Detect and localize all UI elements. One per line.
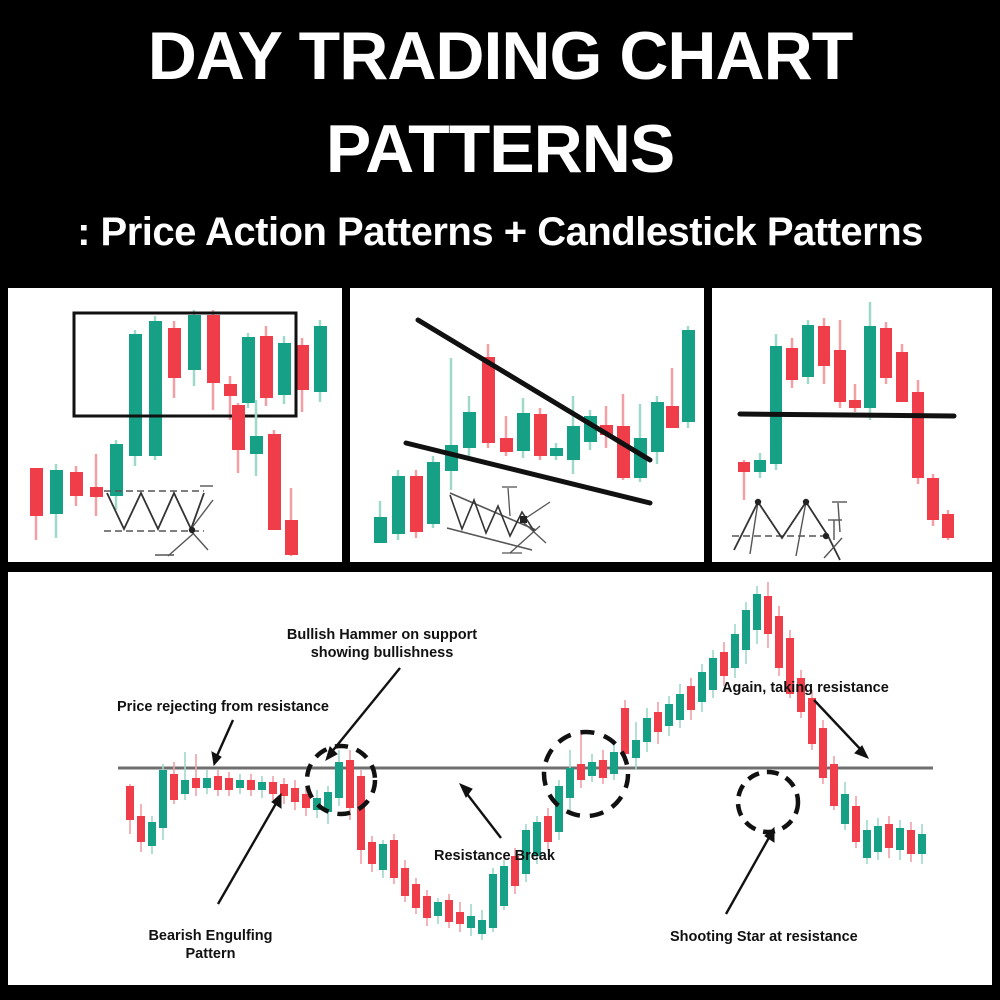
mini-diagram-rectangle-range bbox=[104, 486, 213, 556]
arrow-price-rejecting bbox=[216, 720, 233, 758]
falling-wedge-trendlines bbox=[406, 320, 650, 503]
page-title-line-2: PATTERNS bbox=[0, 115, 1000, 183]
arrow-bearish-engulfing bbox=[218, 800, 278, 904]
falling-wedge-chart bbox=[350, 288, 704, 562]
annotation-shooting-star-at-resistance: Shooting Star at resistance bbox=[670, 928, 858, 946]
rectangle-range-chart bbox=[8, 288, 342, 562]
arrow-bullish-hammer bbox=[330, 668, 400, 754]
panel-falling-wedge[interactable] bbox=[350, 288, 704, 562]
panel-main-annotated[interactable] bbox=[8, 572, 992, 985]
double-top-chart bbox=[712, 288, 992, 562]
annotation-price-rejecting-from-resistance: Price rejecting from resistance bbox=[117, 698, 329, 716]
circle-shooting-star bbox=[738, 772, 798, 832]
mini-diagram-falling-wedge bbox=[447, 487, 550, 553]
annotation-again-taking-resistance: Again, taking resistance bbox=[722, 679, 889, 697]
annotation-bullish-hammer-on-support: Bullish Hammer on support showing bullis… bbox=[271, 626, 493, 662]
page-title-line-1: DAY TRADING CHART bbox=[0, 22, 1000, 90]
arrow-shooting-star bbox=[726, 834, 771, 914]
mini-diagram-double-top bbox=[732, 499, 847, 560]
arrow-resistance-break bbox=[464, 790, 501, 838]
title-banner: DAY TRADING CHART PATTERNS : Price Actio… bbox=[0, 0, 1000, 288]
panel-rectangle-range[interactable] bbox=[8, 288, 342, 562]
panel-double-top[interactable] bbox=[712, 288, 992, 562]
page-subtitle: : Price Action Patterns + Candlestick Pa… bbox=[0, 212, 1000, 252]
annotation-resistance-break: Resistance Break bbox=[434, 847, 555, 865]
lower-trendline bbox=[406, 443, 650, 503]
candles-breakdown bbox=[232, 400, 298, 556]
candles-main-right bbox=[775, 606, 926, 864]
poster-root: DAY TRADING CHART PATTERNS : Price Actio… bbox=[0, 0, 1000, 1000]
annotation-bearish-engulfing-pattern: Bearish Engulfing Pattern bbox=[142, 927, 279, 963]
main-candlestick-chart bbox=[8, 572, 992, 985]
candles-falling-wedge bbox=[374, 326, 695, 543]
candles-double-top bbox=[738, 302, 954, 540]
double-top-neckline bbox=[740, 414, 954, 416]
